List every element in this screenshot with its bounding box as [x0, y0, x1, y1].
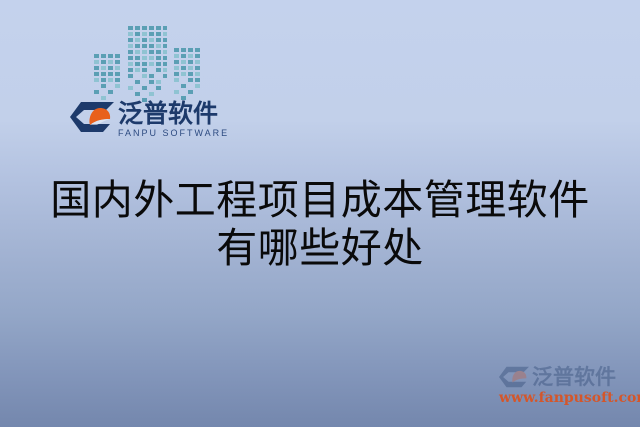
fanpu-logo-mark-icon [70, 102, 114, 132]
watermark-brand-name-cn: 泛普软件 [532, 366, 616, 388]
brand-text-block: 泛普软件 FANPU SOFTWARE [118, 101, 229, 138]
watermark-logo-row: 泛普软件 [499, 366, 635, 388]
watermark: 泛普软件 www.fanpusoft.com [499, 366, 635, 418]
pixel-mosaic-buildings-icon [92, 24, 204, 110]
watermark-fanpu-logo-mark-icon [499, 366, 529, 388]
page-title-line-2: 有哪些好处 [0, 224, 640, 272]
brand-logo: 泛普软件 FANPU SOFTWARE [70, 101, 229, 143]
page-title: 国内外工程项目成本管理软件 有哪些好处 [0, 176, 640, 272]
brand-name-en: FANPU SOFTWARE [118, 128, 229, 138]
watermark-url: www.fanpusoft.com [499, 390, 635, 406]
brand-name-cn: 泛普软件 [118, 101, 218, 126]
article-banner-image: 泛普软件 FANPU SOFTWARE 国内外工程项目成本管理软件 有哪些好处 … [0, 0, 640, 427]
page-title-line-1: 国内外工程项目成本管理软件 [0, 176, 640, 224]
